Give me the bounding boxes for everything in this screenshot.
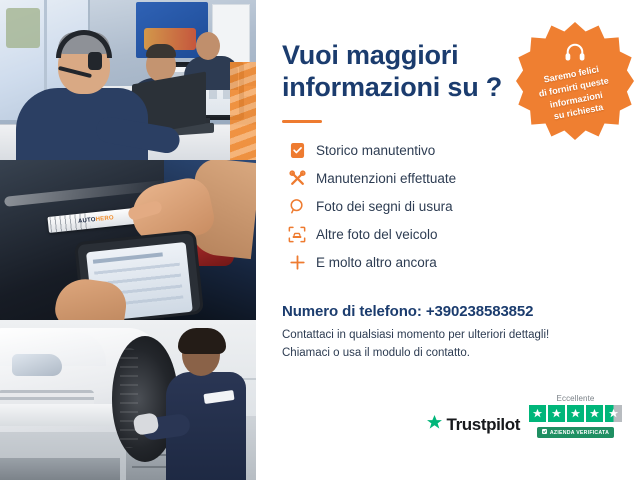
feature-label: Manutenzioni effettuate <box>312 171 456 186</box>
verified-label: AZIENDA VERIFICATA <box>550 430 609 436</box>
photo-strip: AUTOHERO <box>0 0 256 480</box>
phone-subtext-line-1: Contattaci in qualsiasi momento per ulte… <box>282 327 614 345</box>
star-filled <box>529 405 546 422</box>
phone-label: Numero di telefono: <box>282 303 422 320</box>
phone-block: Numero di telefono: +390238583852 Contat… <box>282 303 614 363</box>
feature-item-altre-foto-veicolo: Altre foto del veicolo <box>282 221 614 249</box>
verified-business-badge: AZIENDA VERIFICATA <box>537 427 614 438</box>
technician-tyre-inspection-photo <box>0 320 256 480</box>
trustpilot-wordmark: Trustpilot <box>447 415 520 435</box>
trustpilot-rating[interactable]: Trustpilot Eccellente AZIENDA VERIFICATA <box>426 394 622 438</box>
trustpilot-score: Eccellente AZIENDA VERIFICATA <box>529 394 622 438</box>
car-scan-frame-icon <box>282 226 312 243</box>
feature-item-molto-altro: E molto altro ancora <box>282 249 614 277</box>
title-divider <box>282 120 322 123</box>
star-filled <box>586 405 603 422</box>
availability-badge: Saremo felici di fornirti queste informa… <box>516 22 634 140</box>
feature-item-foto-segni-usura: Foto dei segni di usura <box>282 193 614 221</box>
trustpilot-brand: Trustpilot <box>426 414 520 438</box>
star-filled <box>567 405 584 422</box>
page-title: Vuoi maggiori informazioni su ? <box>282 40 532 104</box>
trustpilot-rating-label: Eccellente <box>557 394 595 403</box>
feature-label: Altre foto del veicolo <box>312 227 438 242</box>
headset-icon <box>564 42 586 67</box>
phone-number[interactable]: +390238583852 <box>426 303 534 320</box>
plus-icon <box>282 254 312 271</box>
trustpilot-stars <box>529 405 622 422</box>
verified-check-icon <box>542 429 547 436</box>
star-half <box>605 405 622 422</box>
feature-label: Foto dei segni di usura <box>312 199 453 214</box>
headline-line-1: Vuoi maggiori <box>282 40 532 72</box>
feature-label: E molto altro ancora <box>312 255 437 270</box>
feature-item-storico-manutentivo: Storico manutentivo <box>282 137 614 165</box>
checklist-document-icon <box>282 142 312 159</box>
feature-item-manutenzioni-effettuate: Manutenzioni effettuate <box>282 165 614 193</box>
headline-line-2: informazioni su ? <box>282 72 532 104</box>
star-filled <box>548 405 565 422</box>
feature-label: Storico manutentivo <box>312 143 435 158</box>
phone-subtext: Contattaci in qualsiasi momento per ulte… <box>282 327 614 363</box>
phone-subtext-line-2: Chiamaci o usa il modulo di contatto. <box>282 345 614 363</box>
content-panel: Vuoi maggiori informazioni su ? Saremo f… <box>256 0 640 480</box>
wrench-screwdriver-cross-icon <box>282 170 312 187</box>
promo-banner: AUTOHERO Vuoi maggiori <box>0 0 640 480</box>
magnifier-icon <box>282 198 312 215</box>
trustpilot-star-icon <box>426 414 443 436</box>
autohero-ruler-inspection-photo: AUTOHERO <box>0 160 256 320</box>
call-center-agent-photo <box>0 0 256 160</box>
phone-line: Numero di telefono: +390238583852 <box>282 303 614 320</box>
feature-list: Storico manutentivo Manutenzioni effettu… <box>282 137 614 277</box>
